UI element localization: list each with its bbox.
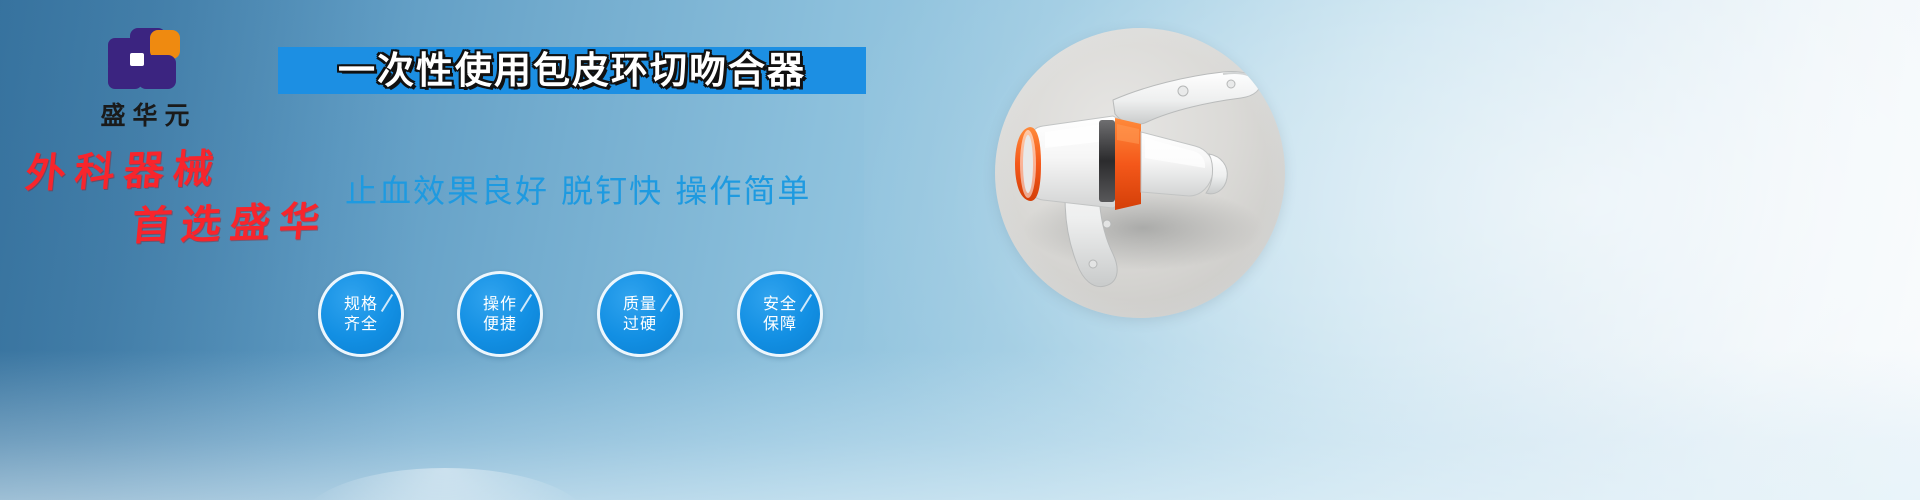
feature-badge-2-line2: 便捷 bbox=[483, 314, 517, 334]
badge-slash-icon bbox=[660, 294, 672, 312]
headline-bar: 一次性使用包皮环切吻合器 bbox=[278, 47, 866, 94]
calligraphy-slogan: 外科器械 首选盛华 bbox=[22, 150, 352, 260]
logo-notch bbox=[130, 53, 144, 66]
subtitle-text: 止血效果良好 脱钉快 操作简单 bbox=[345, 166, 811, 212]
badge-slash-icon bbox=[800, 294, 812, 312]
badge-slash-icon bbox=[381, 294, 393, 312]
feature-badge-2[interactable]: 操作 便捷 bbox=[457, 271, 543, 357]
feature-badges: 规格 齐全 操作 便捷 质量 过硬 安全 保障 bbox=[318, 271, 858, 353]
badge-slash-icon bbox=[520, 294, 532, 312]
calligraphy-line-2: 首选盛华 bbox=[130, 201, 354, 247]
product-photo bbox=[995, 28, 1285, 318]
feature-badge-3-line1: 质量 bbox=[623, 294, 657, 314]
brand-name-text: 盛华元 bbox=[60, 96, 230, 132]
promotional-banner: 盛华元 一次性使用包皮环切吻合器 外科器械 首选盛华 止血效果良好 脱钉快 操作… bbox=[0, 0, 1920, 500]
headline-text: 一次性使用包皮环切吻合器 bbox=[338, 52, 806, 89]
stapler-device-illustration bbox=[995, 28, 1285, 318]
feature-badge-1[interactable]: 规格 齐全 bbox=[318, 271, 404, 357]
brand-logo[interactable]: 盛华元 bbox=[60, 28, 230, 123]
feature-badge-1-line2: 齐全 bbox=[344, 314, 378, 334]
calligraphy-line-1: 外科器械 bbox=[24, 146, 355, 195]
feature-badge-4-line2: 保障 bbox=[763, 314, 797, 334]
interlocking-squares-logo-icon bbox=[108, 28, 182, 92]
feature-badge-3[interactable]: 质量 过硬 bbox=[597, 271, 683, 357]
feature-badge-1-line1: 规格 bbox=[344, 294, 378, 314]
feature-badge-4-line1: 安全 bbox=[763, 294, 797, 314]
feature-badge-2-line1: 操作 bbox=[483, 294, 517, 314]
feature-badge-4[interactable]: 安全 保障 bbox=[737, 271, 823, 357]
feature-badge-3-line2: 过硬 bbox=[623, 314, 657, 334]
